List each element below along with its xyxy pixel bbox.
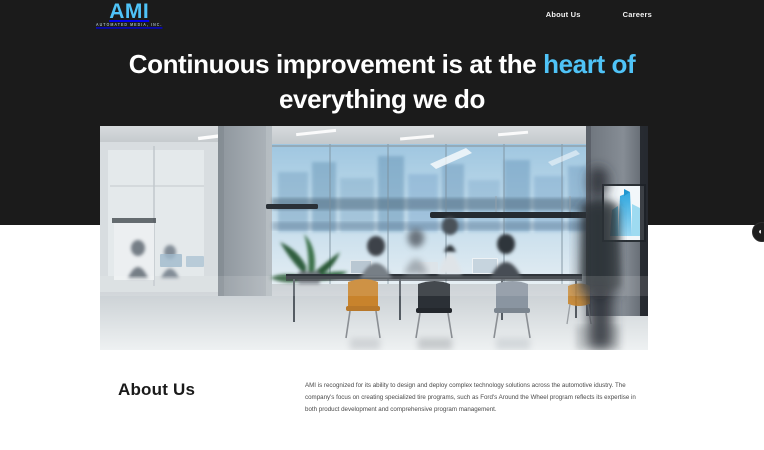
about-section-body: AMI is recognized for its ability to des… <box>305 380 645 416</box>
brand-logo-mark: AMI <box>109 1 149 22</box>
nav-link-careers[interactable]: Careers <box>623 10 652 19</box>
nav-links: About Us Careers <box>546 10 652 19</box>
chat-bubble-icon: ◖ <box>758 228 763 236</box>
hero-headline-line2: everything we do <box>279 84 485 114</box>
hero-headline-accent: heart of <box>543 49 635 79</box>
office-scene-illustration <box>100 126 648 350</box>
brand-logo-subtitle: AUTOMATED MEDIA, INC. <box>96 24 162 28</box>
hero-headline-line1-lead: Continuous improvement is at the <box>129 49 543 79</box>
about-section-title: About Us <box>118 380 195 400</box>
hero-office-image <box>100 126 648 350</box>
edge-chat-widget-button[interactable]: ◖ <box>752 222 764 242</box>
nav-link-about-us[interactable]: About Us <box>546 10 581 19</box>
brand-logo-link[interactable]: AMI AUTOMATED MEDIA, INC. <box>96 1 162 28</box>
hero-headline: Continuous improvement is at the heart o… <box>0 47 764 116</box>
top-navigation-bar: AMI AUTOMATED MEDIA, INC. About Us Caree… <box>0 0 764 32</box>
page-root: AMI AUTOMATED MEDIA, INC. About Us Caree… <box>0 0 764 450</box>
